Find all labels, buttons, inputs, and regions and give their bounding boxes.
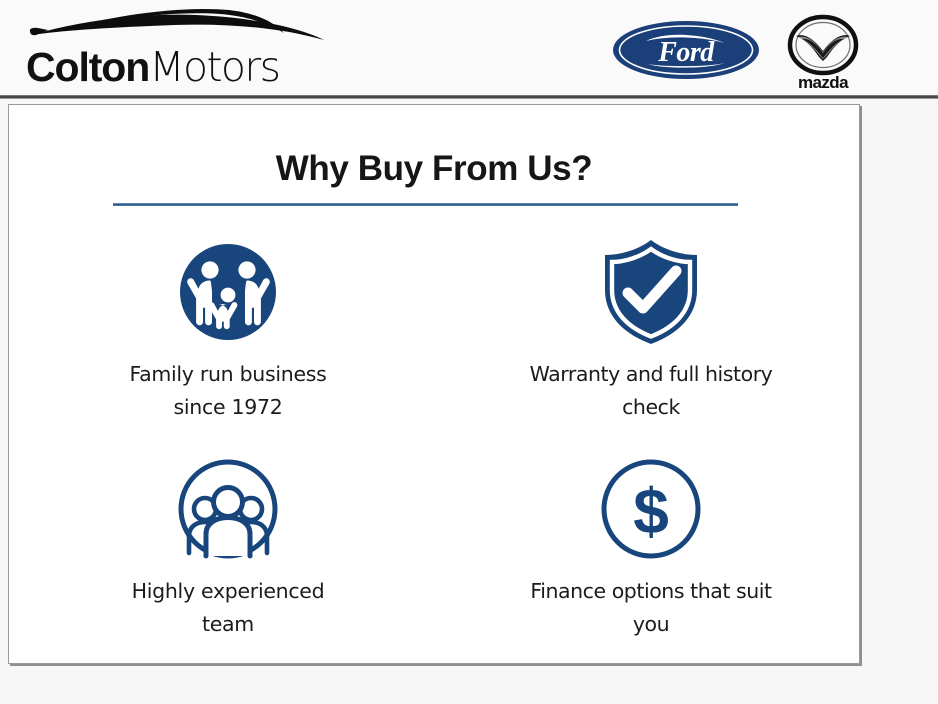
feature-label: Finance options that suit you: [511, 575, 791, 641]
mazda-logo[interactable]: mazda: [780, 12, 866, 94]
feature-warranty[interactable]: Warranty and full history check: [435, 230, 861, 424]
feature-icon-wrap: [179, 240, 277, 344]
brand-name-light: Motors: [149, 43, 279, 91]
dollar-sign-icon: $: [599, 457, 703, 561]
family-icon: [179, 243, 277, 341]
page-title: Why Buy From Us?: [9, 105, 859, 189]
header-divider: [0, 95, 938, 99]
slide-page: ColtonMotors Ford mazda Why Buy From Us?: [0, 0, 938, 704]
car-silhouette-icon: [24, 4, 344, 48]
feature-icon-wrap: [600, 240, 702, 344]
shield-check-icon: [600, 238, 702, 346]
title-divider: [113, 203, 738, 206]
feature-icon-wrap: $: [599, 457, 703, 561]
ford-logo[interactable]: Ford: [612, 20, 760, 80]
features-grid: Family run business since 1972 Warranty …: [9, 230, 861, 641]
group-people-icon: [176, 457, 280, 561]
page-header: ColtonMotors Ford mazda: [0, 0, 938, 97]
svg-text:Ford: Ford: [657, 37, 715, 68]
svg-text:$: $: [633, 475, 669, 547]
brand-name-bold: Colton: [26, 44, 149, 90]
feature-team[interactable]: Highly experienced team: [9, 424, 435, 641]
feature-label: Highly experienced team: [117, 575, 339, 641]
feature-finance[interactable]: $ Finance options that suit you: [435, 424, 861, 641]
svg-text:mazda: mazda: [798, 73, 849, 92]
feature-label: Family run business since 1972: [117, 358, 339, 424]
feature-label: Warranty and full history check: [511, 358, 791, 424]
colton-motors-logo[interactable]: ColtonMotors: [24, 4, 354, 94]
why-buy-card: Why Buy From Us?: [8, 104, 860, 664]
brand-wordmark: ColtonMotors: [26, 45, 279, 89]
feature-icon-wrap: [176, 457, 280, 561]
feature-family[interactable]: Family run business since 1972: [9, 230, 435, 424]
